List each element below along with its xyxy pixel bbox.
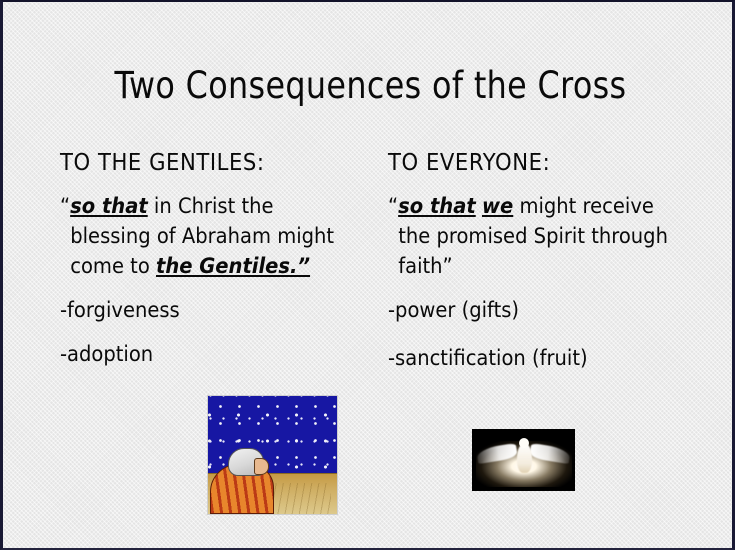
column-everyone: TO EVERYONE: “so that we might receive t… <box>388 150 708 394</box>
quote-emphasis-so-that: so that <box>70 194 148 218</box>
quote-emphasis-the-gentiles: the Gentiles.” <box>156 254 310 278</box>
abraham-starry-night-image <box>207 395 338 515</box>
bullet-adoption: -adoption <box>60 342 348 366</box>
quote-emphasis-we: we <box>482 194 513 218</box>
face <box>254 458 269 475</box>
column-gentiles-quote: “so that in Christ the blessing of Abrah… <box>60 192 349 281</box>
column-gentiles-heading: TO THE GENTILES: <box>60 150 345 176</box>
abraham-figure <box>210 450 276 514</box>
quote-emphasis-so-that: so that <box>398 194 476 218</box>
column-gentiles-bullets: -forgiveness -adoption <box>60 298 370 366</box>
page-title: Two Consequences of the Cross <box>54 64 686 107</box>
presentation-slide: Two Consequences of the Cross TO THE GEN… <box>0 0 735 550</box>
column-everyone-heading: TO EVERYONE: <box>388 150 682 176</box>
quote-open-mark: “ <box>60 194 70 218</box>
dove-head <box>519 438 529 448</box>
bullet-power-gifts: -power (gifts) <box>388 298 686 322</box>
bullet-forgiveness: -forgiveness <box>60 298 348 322</box>
quote-open-mark: “ <box>388 194 398 218</box>
column-everyone-quote: “so that we might receive the promised S… <box>388 192 688 281</box>
bullet-sanctification-fruit: -sanctification (fruit) <box>388 346 686 370</box>
glowing-dove-image <box>472 429 575 491</box>
column-gentiles: TO THE GENTILES: “so that in Christ the … <box>60 150 370 386</box>
column-everyone-bullets: -power (gifts) -sanctification (fruit) <box>388 298 708 370</box>
